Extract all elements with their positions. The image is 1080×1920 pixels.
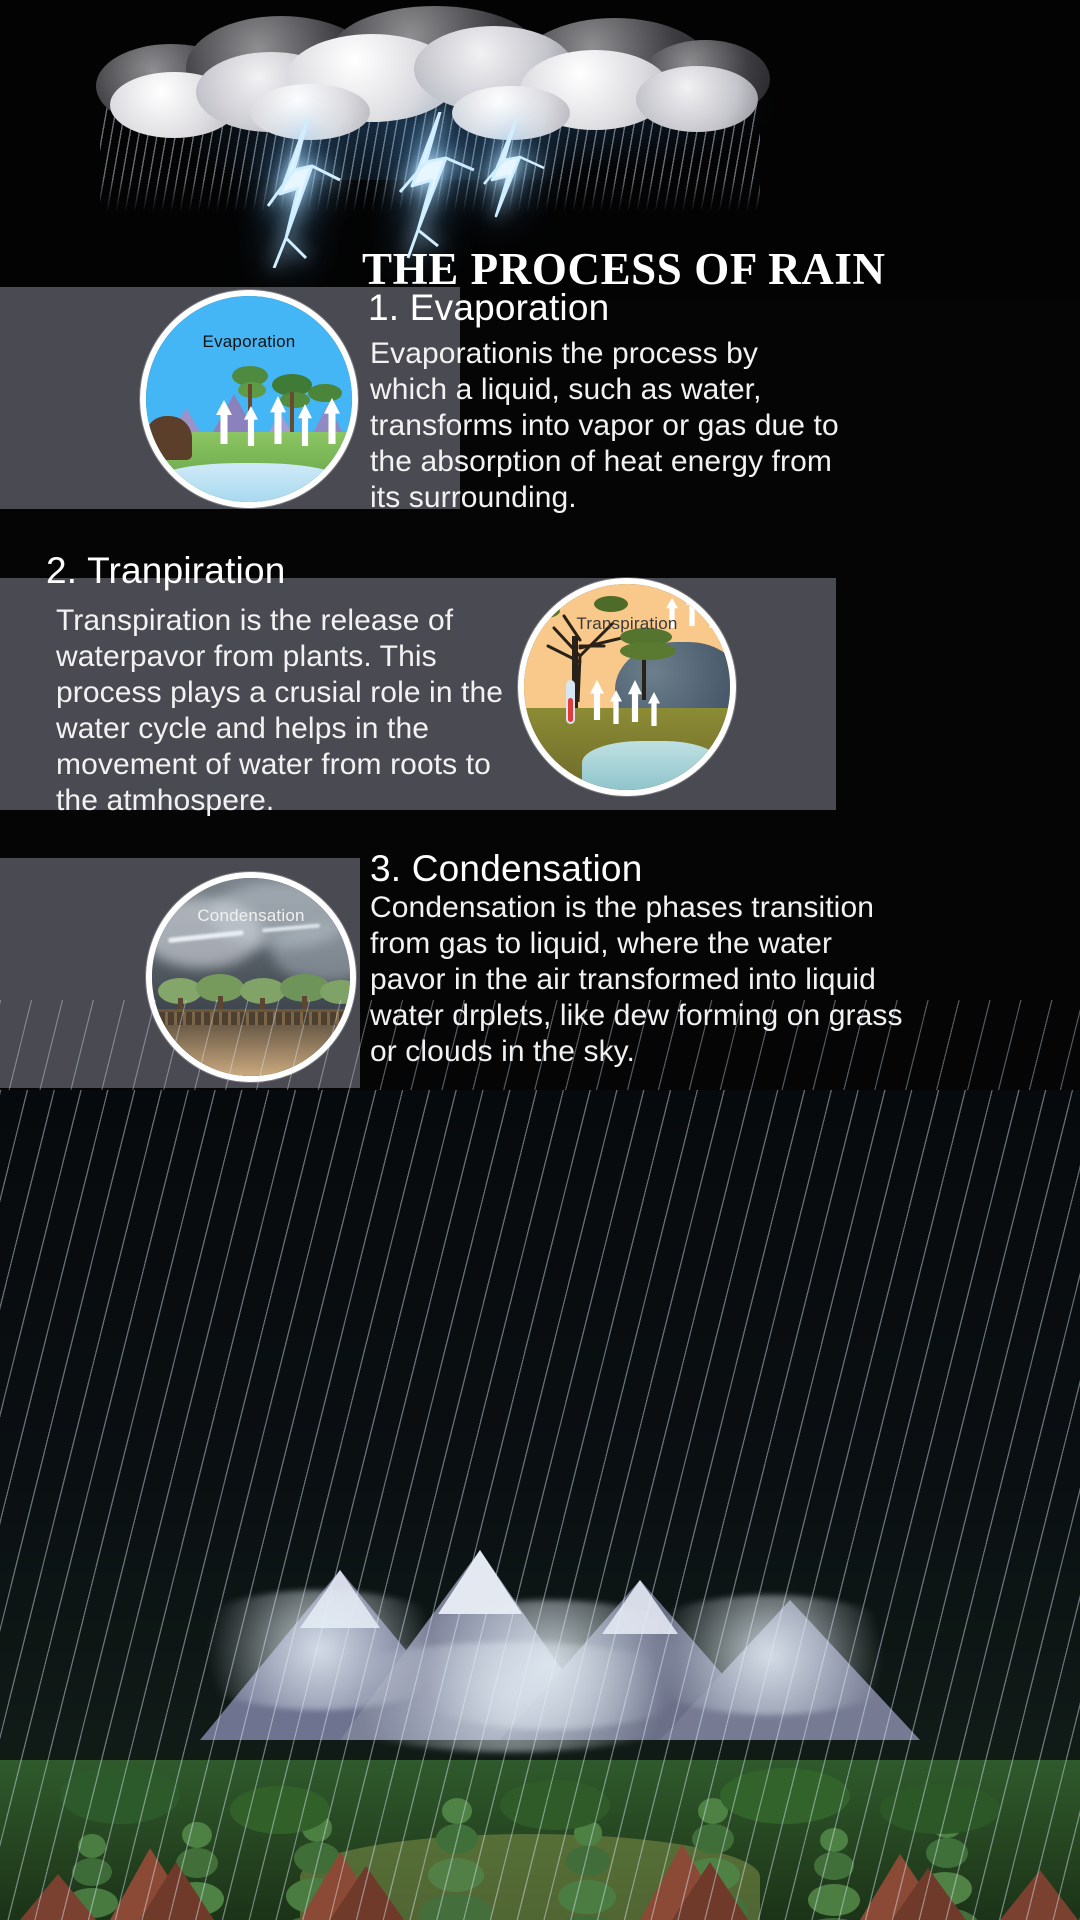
mid-rain-overlay xyxy=(0,1000,1080,1100)
condensation-circle-label: Condensation xyxy=(152,906,350,926)
infographic-poster: THE PROCESS OF RAIN Evaporation 1. Evapo… xyxy=(0,0,1080,1920)
evaporation-water xyxy=(154,463,344,502)
thermometer-icon xyxy=(566,680,575,724)
step-body-evaporation: Evaporationis the process by which a liq… xyxy=(370,336,840,516)
transpiration-small-trunk xyxy=(642,654,646,700)
step-body-transpiration: Transpiration is the release of waterpav… xyxy=(56,603,516,819)
cloud-light-6 xyxy=(636,66,758,132)
transpiration-circle-label: Transpiration xyxy=(524,614,730,634)
step-heading-evaporation: 1. Evaporation xyxy=(368,287,609,329)
transpiration-image: Transpiration xyxy=(518,578,736,796)
forest-rain-overlay xyxy=(0,1090,1080,1920)
footer-forest-illustration xyxy=(0,1090,1080,1920)
evaporation-rock xyxy=(146,416,192,460)
evaporation-circle-label: Evaporation xyxy=(146,332,352,352)
evaporation-tree-2 xyxy=(238,382,266,398)
step-heading-condensation: 3. Condensation xyxy=(370,848,642,890)
evaporation-image: Evaporation xyxy=(140,290,358,508)
step-heading-transpiration: 2. Tranpiration xyxy=(46,550,286,592)
transpiration-leaf-2 xyxy=(594,596,628,612)
lightning-bolt-3 xyxy=(470,120,560,230)
lightning-bolt-1 xyxy=(250,118,360,268)
transpiration-small-canopy xyxy=(620,642,676,660)
transpiration-water xyxy=(582,741,718,790)
evaporation-tree-5 xyxy=(308,384,342,402)
